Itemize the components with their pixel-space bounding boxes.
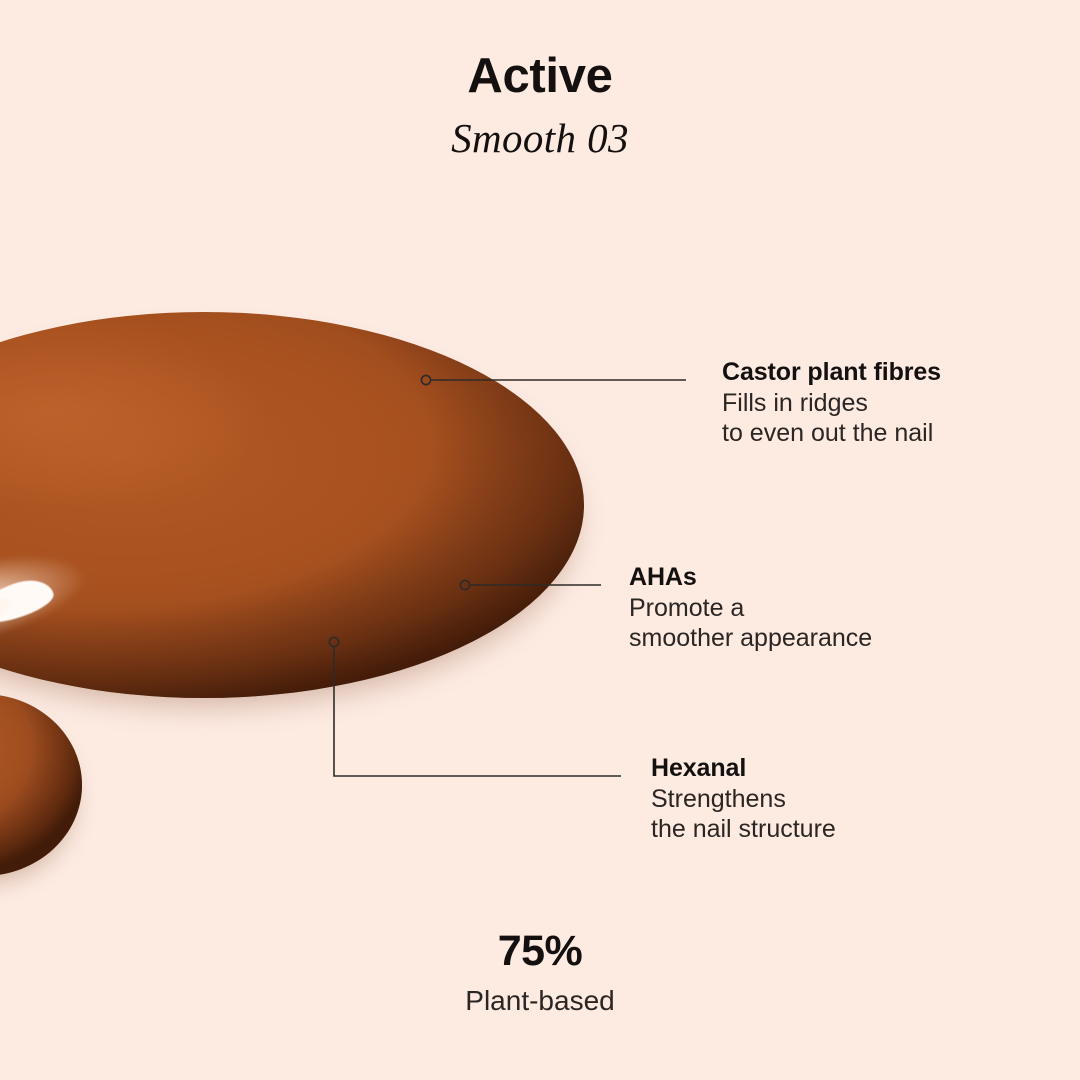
plant-based-label: Plant-based [0,987,1080,1015]
header: Active Smooth 03 [0,52,1080,159]
leader-line-2 [329,637,621,776]
page-subtitle: Smooth 03 [0,118,1080,159]
plant-based-percentage: 75% [0,930,1080,973]
leader-anchor-dot-2 [329,637,338,646]
callout-title: Hexanal [651,753,836,784]
page-title: Active [0,52,1080,101]
leader-anchor-dot-1 [460,580,469,589]
callout-title: Castor plant fibres [722,357,941,388]
callout-ahas: AHAs Promote a smoother appearance [629,562,872,654]
callout-line: to even out the nail [722,418,941,449]
footer: 75% Plant-based [0,930,1080,1015]
secondary-droplet [0,694,82,876]
callout-line: smoother appearance [629,623,872,654]
product-droplet-image [0,0,1080,1080]
leader-anchor-dot-0 [421,375,430,384]
leader-line-1 [460,580,601,589]
droplet-specular-highlight-secondary [0,593,14,626]
callout-title: AHAs [629,562,872,593]
callout-hexanal: Hexanal Strengthens the nail structure [651,753,836,845]
main-droplet [0,312,584,698]
callout-line: Strengthens [651,784,836,815]
callout-line: Promote a [629,593,872,624]
product-ingredient-infographic: Active Smooth 03 Castor plant fibres Fil… [0,0,1080,1080]
callout-castor-plant-fibres: Castor plant fibres Fills in ridges to e… [722,357,941,449]
callout-line: Fills in ridges [722,388,941,419]
leader-lines [0,0,1080,1080]
callout-line: the nail structure [651,814,836,845]
leader-line-0 [421,375,686,384]
droplet-sheen [0,524,112,693]
droplet-specular-highlight [0,574,57,628]
